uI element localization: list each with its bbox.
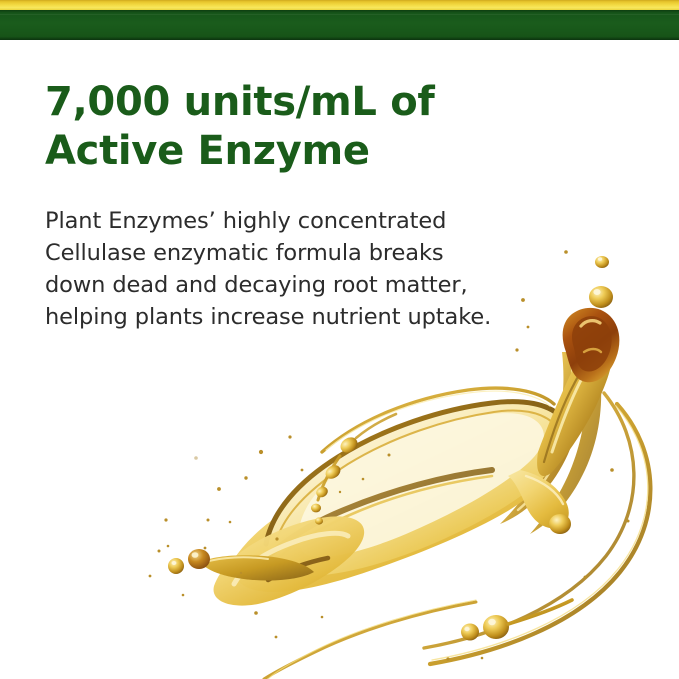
splash-bead-c bbox=[314, 485, 329, 500]
splash-bead-e bbox=[315, 517, 323, 524]
splash-strand-inner bbox=[424, 393, 634, 648]
splash-neck bbox=[537, 339, 612, 476]
body-line-4: helping plants increase nutrient uptake. bbox=[45, 301, 525, 333]
splash-body-highlight bbox=[299, 413, 544, 557]
splash-upper-rim-thin bbox=[276, 410, 552, 542]
droplet-top-right-large-glint bbox=[593, 289, 600, 295]
droplet-top-right-small bbox=[595, 256, 609, 268]
splash-main-body bbox=[232, 433, 546, 592]
body-description: Plant Enzymes’ highly concentrated Cellu… bbox=[45, 205, 525, 333]
splash-lower-fold bbox=[250, 470, 492, 576]
splash-main-sheet-upper bbox=[268, 404, 566, 577]
splash-left-tendril-highlight bbox=[206, 557, 268, 562]
splash-crest-arc bbox=[322, 388, 554, 452]
droplet-left-mid-glint bbox=[172, 561, 177, 565]
droplet-left-mid bbox=[168, 558, 184, 574]
droplet-bottom-right-glint bbox=[488, 619, 496, 625]
top-decorative-bands bbox=[0, 0, 679, 41]
splash-strand-outer bbox=[430, 404, 650, 664]
splash-left-bulb bbox=[188, 549, 210, 569]
splash-head-inner-dark bbox=[572, 316, 612, 371]
splash-left-bulb-glint bbox=[192, 552, 199, 558]
splash-lower-left-lobe-highlight bbox=[234, 533, 348, 584]
splash-bead-a bbox=[338, 434, 361, 455]
splash-crest-arc-highlight bbox=[326, 391, 550, 450]
body-line-2: Cellulase enzymatic formula breaks bbox=[45, 237, 525, 269]
splash-bead-tendril bbox=[318, 456, 340, 500]
splash-lower-fold-inner bbox=[258, 476, 492, 578]
splash-right-hook-highlight bbox=[526, 476, 563, 504]
splash-filament-bottom-left-highlight bbox=[268, 600, 476, 679]
splash-left-tendril bbox=[200, 555, 314, 580]
droplet-bottom-right-tail bbox=[508, 600, 572, 624]
splash-ribbon-right-b bbox=[530, 348, 601, 534]
yellow-accent-band bbox=[0, 0, 679, 10]
page-title: 7,000 units/mL of Active Enzyme bbox=[45, 78, 515, 176]
splash-filament-bottom-left bbox=[264, 602, 476, 679]
splash-bead-d bbox=[311, 504, 321, 513]
splash-right-hook-bulb bbox=[549, 514, 571, 534]
splash-head bbox=[563, 308, 620, 382]
droplet-bottom-right bbox=[483, 615, 509, 639]
splash-ribbon-right-a bbox=[500, 352, 582, 524]
green-header-band bbox=[0, 10, 679, 40]
splash-head-glint bbox=[581, 321, 600, 326]
splash-ribbon-right-highlight bbox=[518, 356, 573, 510]
body-line-1: Plant Enzymes’ highly concentrated bbox=[45, 205, 525, 237]
product-feature-banner: 7,000 units/mL of Active Enzyme Plant En… bbox=[0, 0, 679, 679]
splash-neck-highlight bbox=[552, 350, 602, 452]
body-line-3: down dead and decaying root matter, bbox=[45, 269, 525, 301]
droplet-bottom-center-glint bbox=[464, 627, 469, 631]
splash-head-glint-2 bbox=[584, 349, 601, 352]
headline-line-1: 7,000 units/mL of bbox=[45, 78, 515, 127]
splash-upper-rim bbox=[266, 402, 560, 544]
splash-strand-outer-highlight bbox=[432, 406, 648, 660]
droplet-bottom-center bbox=[461, 624, 479, 641]
splash-bead-link bbox=[356, 414, 396, 438]
splash-lower-left-lobe bbox=[214, 516, 365, 605]
splash-neck-dark-edge bbox=[544, 350, 600, 462]
droplet-top-right-large bbox=[589, 286, 613, 308]
droplet-top-right-small-glint bbox=[598, 257, 602, 261]
splash-right-hook bbox=[508, 470, 569, 528]
splash-bead-b bbox=[323, 462, 343, 481]
splash-lower-left-dark-streak bbox=[268, 558, 328, 580]
headline-line-2: Active Enzyme bbox=[45, 127, 515, 176]
